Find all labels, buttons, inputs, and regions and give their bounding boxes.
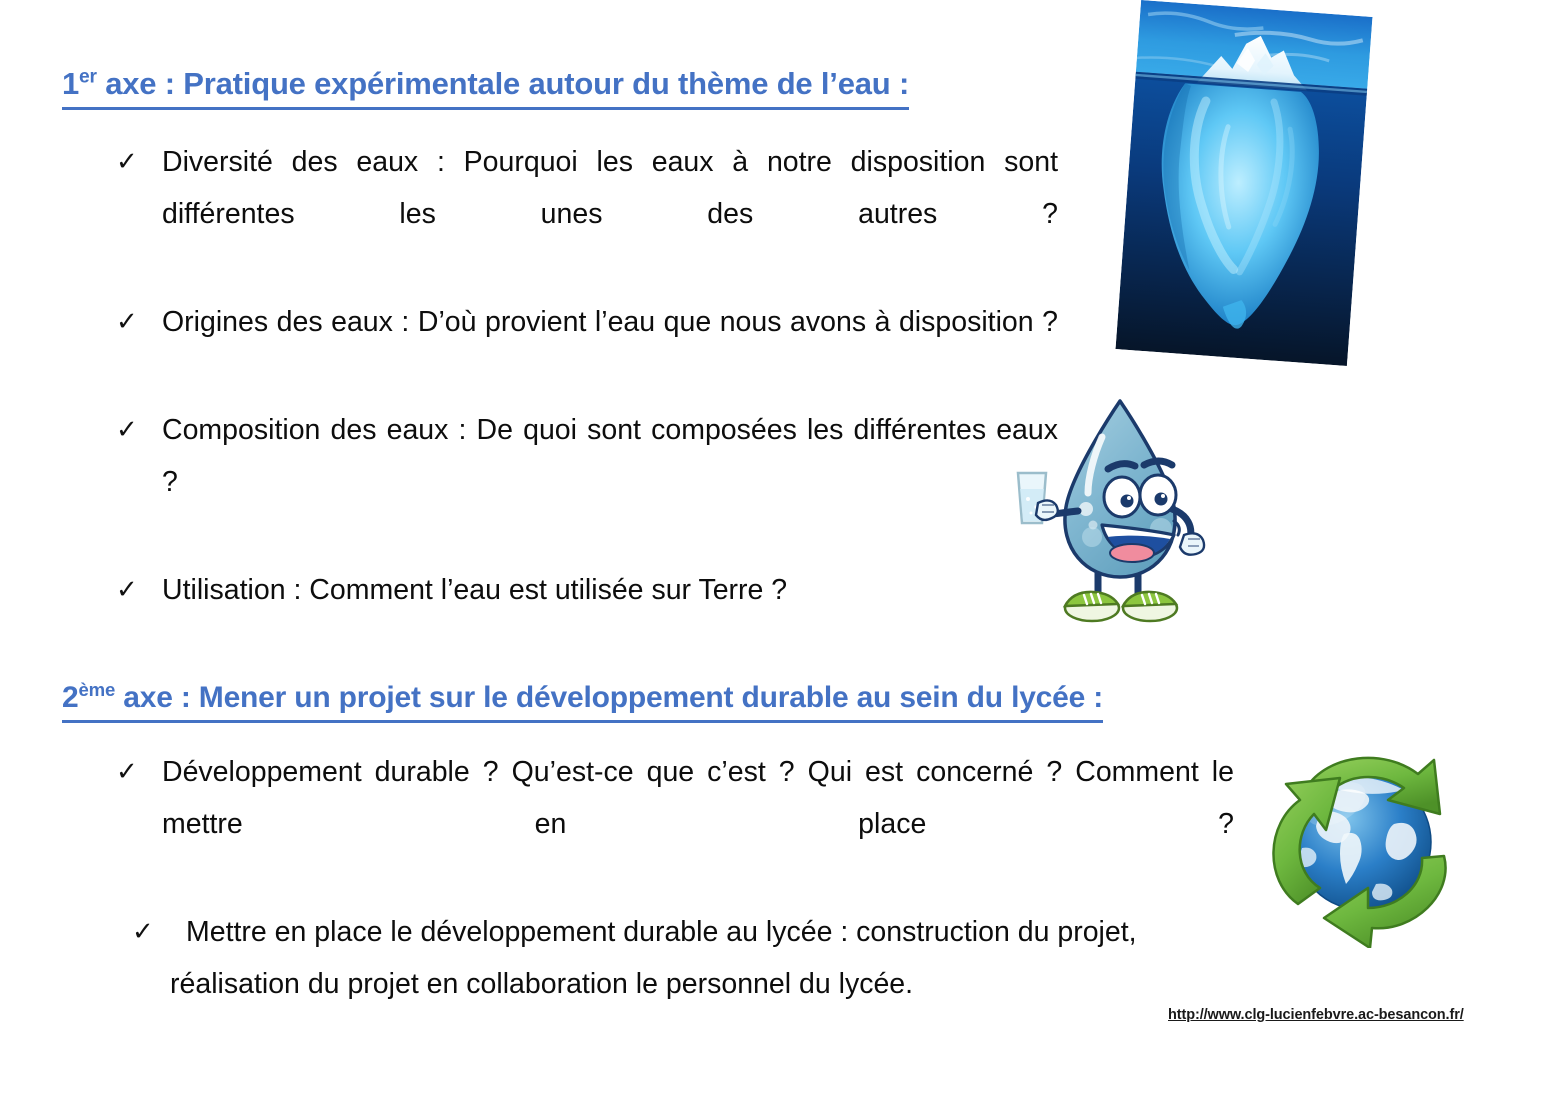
checkmark-icon: ✓ [116, 296, 138, 348]
list-item: ✓ Composition des eaux : De quoi sont co… [112, 404, 1058, 560]
list-item-label: Origines des eaux : D’où provient l’eau … [162, 296, 1058, 400]
list-item: ✓ Développement durable ? Qu’est-ce que … [112, 746, 1234, 902]
bullet-list-axis-1: ✓ Diversité des eaux : Pourquoi les eaux… [112, 136, 1058, 620]
list-item: ✓ Origines des eaux : D’où provient l’ea… [112, 296, 1058, 400]
list-item: ✓ Utilisation : Comment l’eau est utilis… [112, 564, 1058, 616]
list-item: ✓ Mettre en place le développement durab… [112, 906, 1234, 1010]
checkmark-icon: ✓ [116, 404, 138, 456]
slide-canvas: 1er axe : Pratique expérimentale autour … [0, 0, 1544, 1094]
list-item-label: Mettre en place le développement durable… [170, 906, 1234, 1010]
bullet-list-axis-2: ✓ Développement durable ? Qu’est-ce que … [112, 746, 1234, 1014]
list-item-label: Développement durable ? Qu’est-ce que c’… [162, 746, 1234, 902]
list-item: ✓ Diversité des eaux : Pourquoi les eaux… [112, 136, 1058, 292]
heading-axis-1: 1er axe : Pratique expérimentale autour … [62, 66, 909, 110]
heading-axis-2-number: 2 [62, 681, 79, 714]
list-item-label: Utilisation : Comment l’eau est utilisée… [162, 564, 1058, 616]
water-drop-mascot [998, 385, 1248, 635]
recycling-earth-illustration [1258, 738, 1468, 948]
heading-axis-1-text: axe : Pratique expérimentale autour du t… [97, 66, 909, 101]
heading-axis-1-number: 1 [62, 66, 79, 101]
checkmark-icon: ✓ [116, 136, 138, 188]
source-url-link[interactable]: http://www.clg-lucienfebvre.ac-besancon.… [1168, 1007, 1464, 1023]
recycle-earth-icon [1258, 738, 1468, 948]
heading-axis-2-text: axe : Mener un projet sur le développeme… [115, 681, 1103, 714]
iceberg-illustration [1115, 0, 1372, 366]
list-item-label: Composition des eaux : De quoi sont comp… [162, 404, 1058, 560]
water-drop-character-illustration [998, 385, 1248, 635]
checkmark-icon: ✓ [116, 746, 138, 798]
heading-axis-2: 2ème axe : Mener un projet sur le dévelo… [62, 681, 1103, 723]
list-item-label: Diversité des eaux : Pourquoi les eaux à… [162, 136, 1058, 292]
iceberg-photo [1115, 0, 1372, 366]
checkmark-icon: ✓ [116, 564, 138, 616]
heading-axis-1-ordinal: er [79, 67, 97, 88]
heading-axis-2-ordinal: ème [79, 679, 116, 700]
checkmark-icon: ✓ [116, 906, 154, 958]
